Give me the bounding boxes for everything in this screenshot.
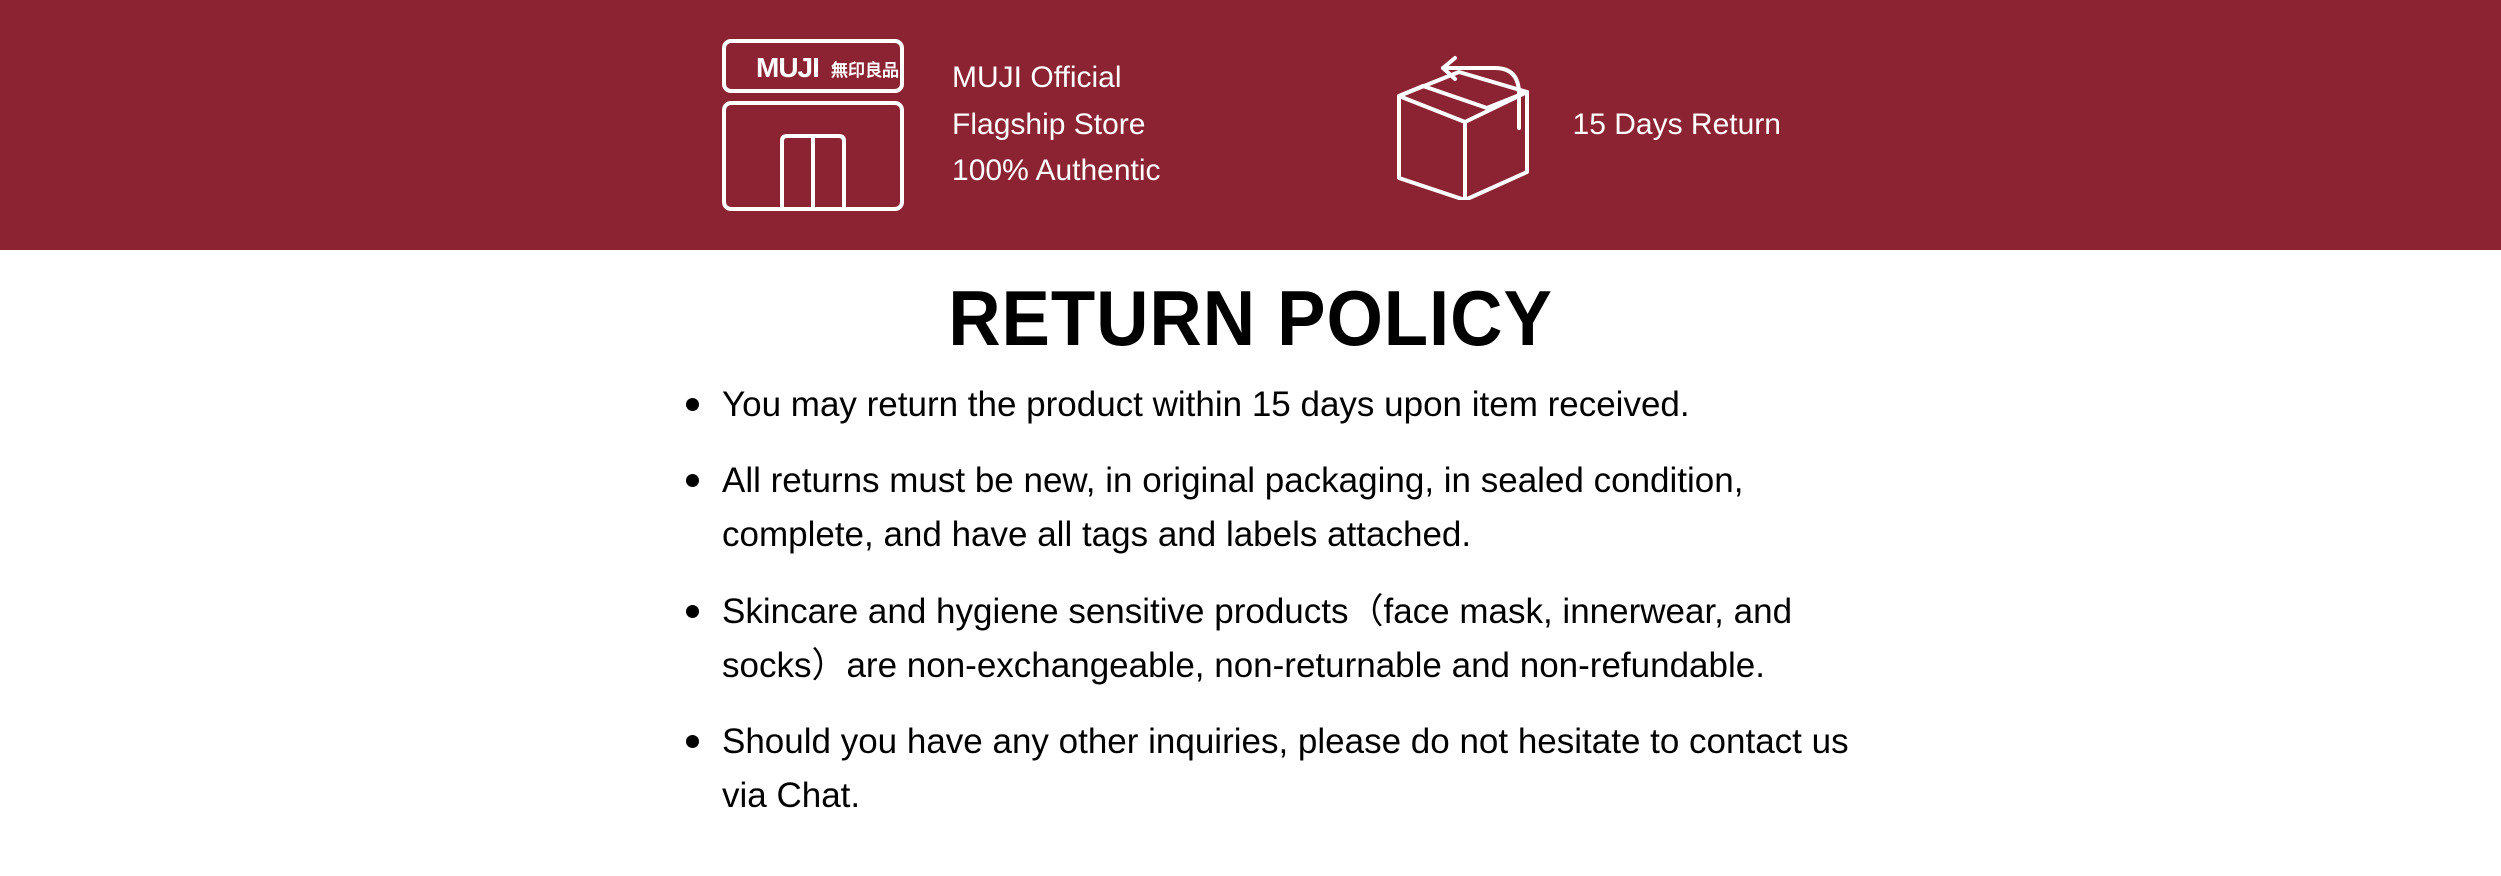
store-authenticity-badge: MUJI 無印良品 MUJI Official Flagship Store 1… — [720, 37, 1161, 213]
list-item: Should you have any other inquiries, ple… — [686, 715, 1866, 824]
list-item-text: All returns must be new, in original pac… — [722, 461, 1743, 554]
list-item: Skincare and hygiene sensitive products（… — [686, 585, 1866, 694]
store-badge-line-1: MUJI Official — [952, 55, 1161, 102]
page-title: RETURN POLICY — [88, 278, 2414, 360]
bullet-icon — [686, 735, 699, 748]
list-item: You may return the product within 15 day… — [686, 378, 1866, 432]
list-item-text: Skincare and hygiene sensitive products（… — [722, 592, 1792, 685]
bullet-icon — [686, 398, 699, 411]
policy-list: You may return the product within 15 day… — [686, 378, 1866, 824]
svg-text:MUJI: MUJI — [756, 52, 819, 83]
svg-text:無印良品: 無印良品 — [831, 60, 899, 81]
promo-banner: MUJI 無印良品 MUJI Official Flagship Store 1… — [0, 0, 2501, 250]
return-box-icon — [1391, 50, 1551, 200]
bullet-icon — [686, 474, 699, 487]
store-badge-line-3: 100% Authentic — [952, 148, 1161, 195]
banner-badges: MUJI 無印良品 MUJI Official Flagship Store 1… — [720, 37, 1781, 213]
list-item: All returns must be new, in original pac… — [686, 454, 1866, 563]
store-badge-text: MUJI Official Flagship Store 100% Authen… — [952, 55, 1161, 195]
list-item-text: Should you have any other inquiries, ple… — [722, 722, 1849, 815]
bullet-icon — [686, 605, 699, 618]
return-badge-label: 15 Days Return — [1573, 108, 1781, 142]
return-period-badge: 15 Days Return — [1391, 50, 1781, 200]
store-badge-line-2: Flagship Store — [952, 102, 1161, 149]
muji-storefront-icon: MUJI 無印良品 — [720, 37, 928, 213]
list-item-text: You may return the product within 15 day… — [722, 385, 1690, 424]
policy-section: RETURN POLICY You may return the product… — [0, 250, 2501, 824]
